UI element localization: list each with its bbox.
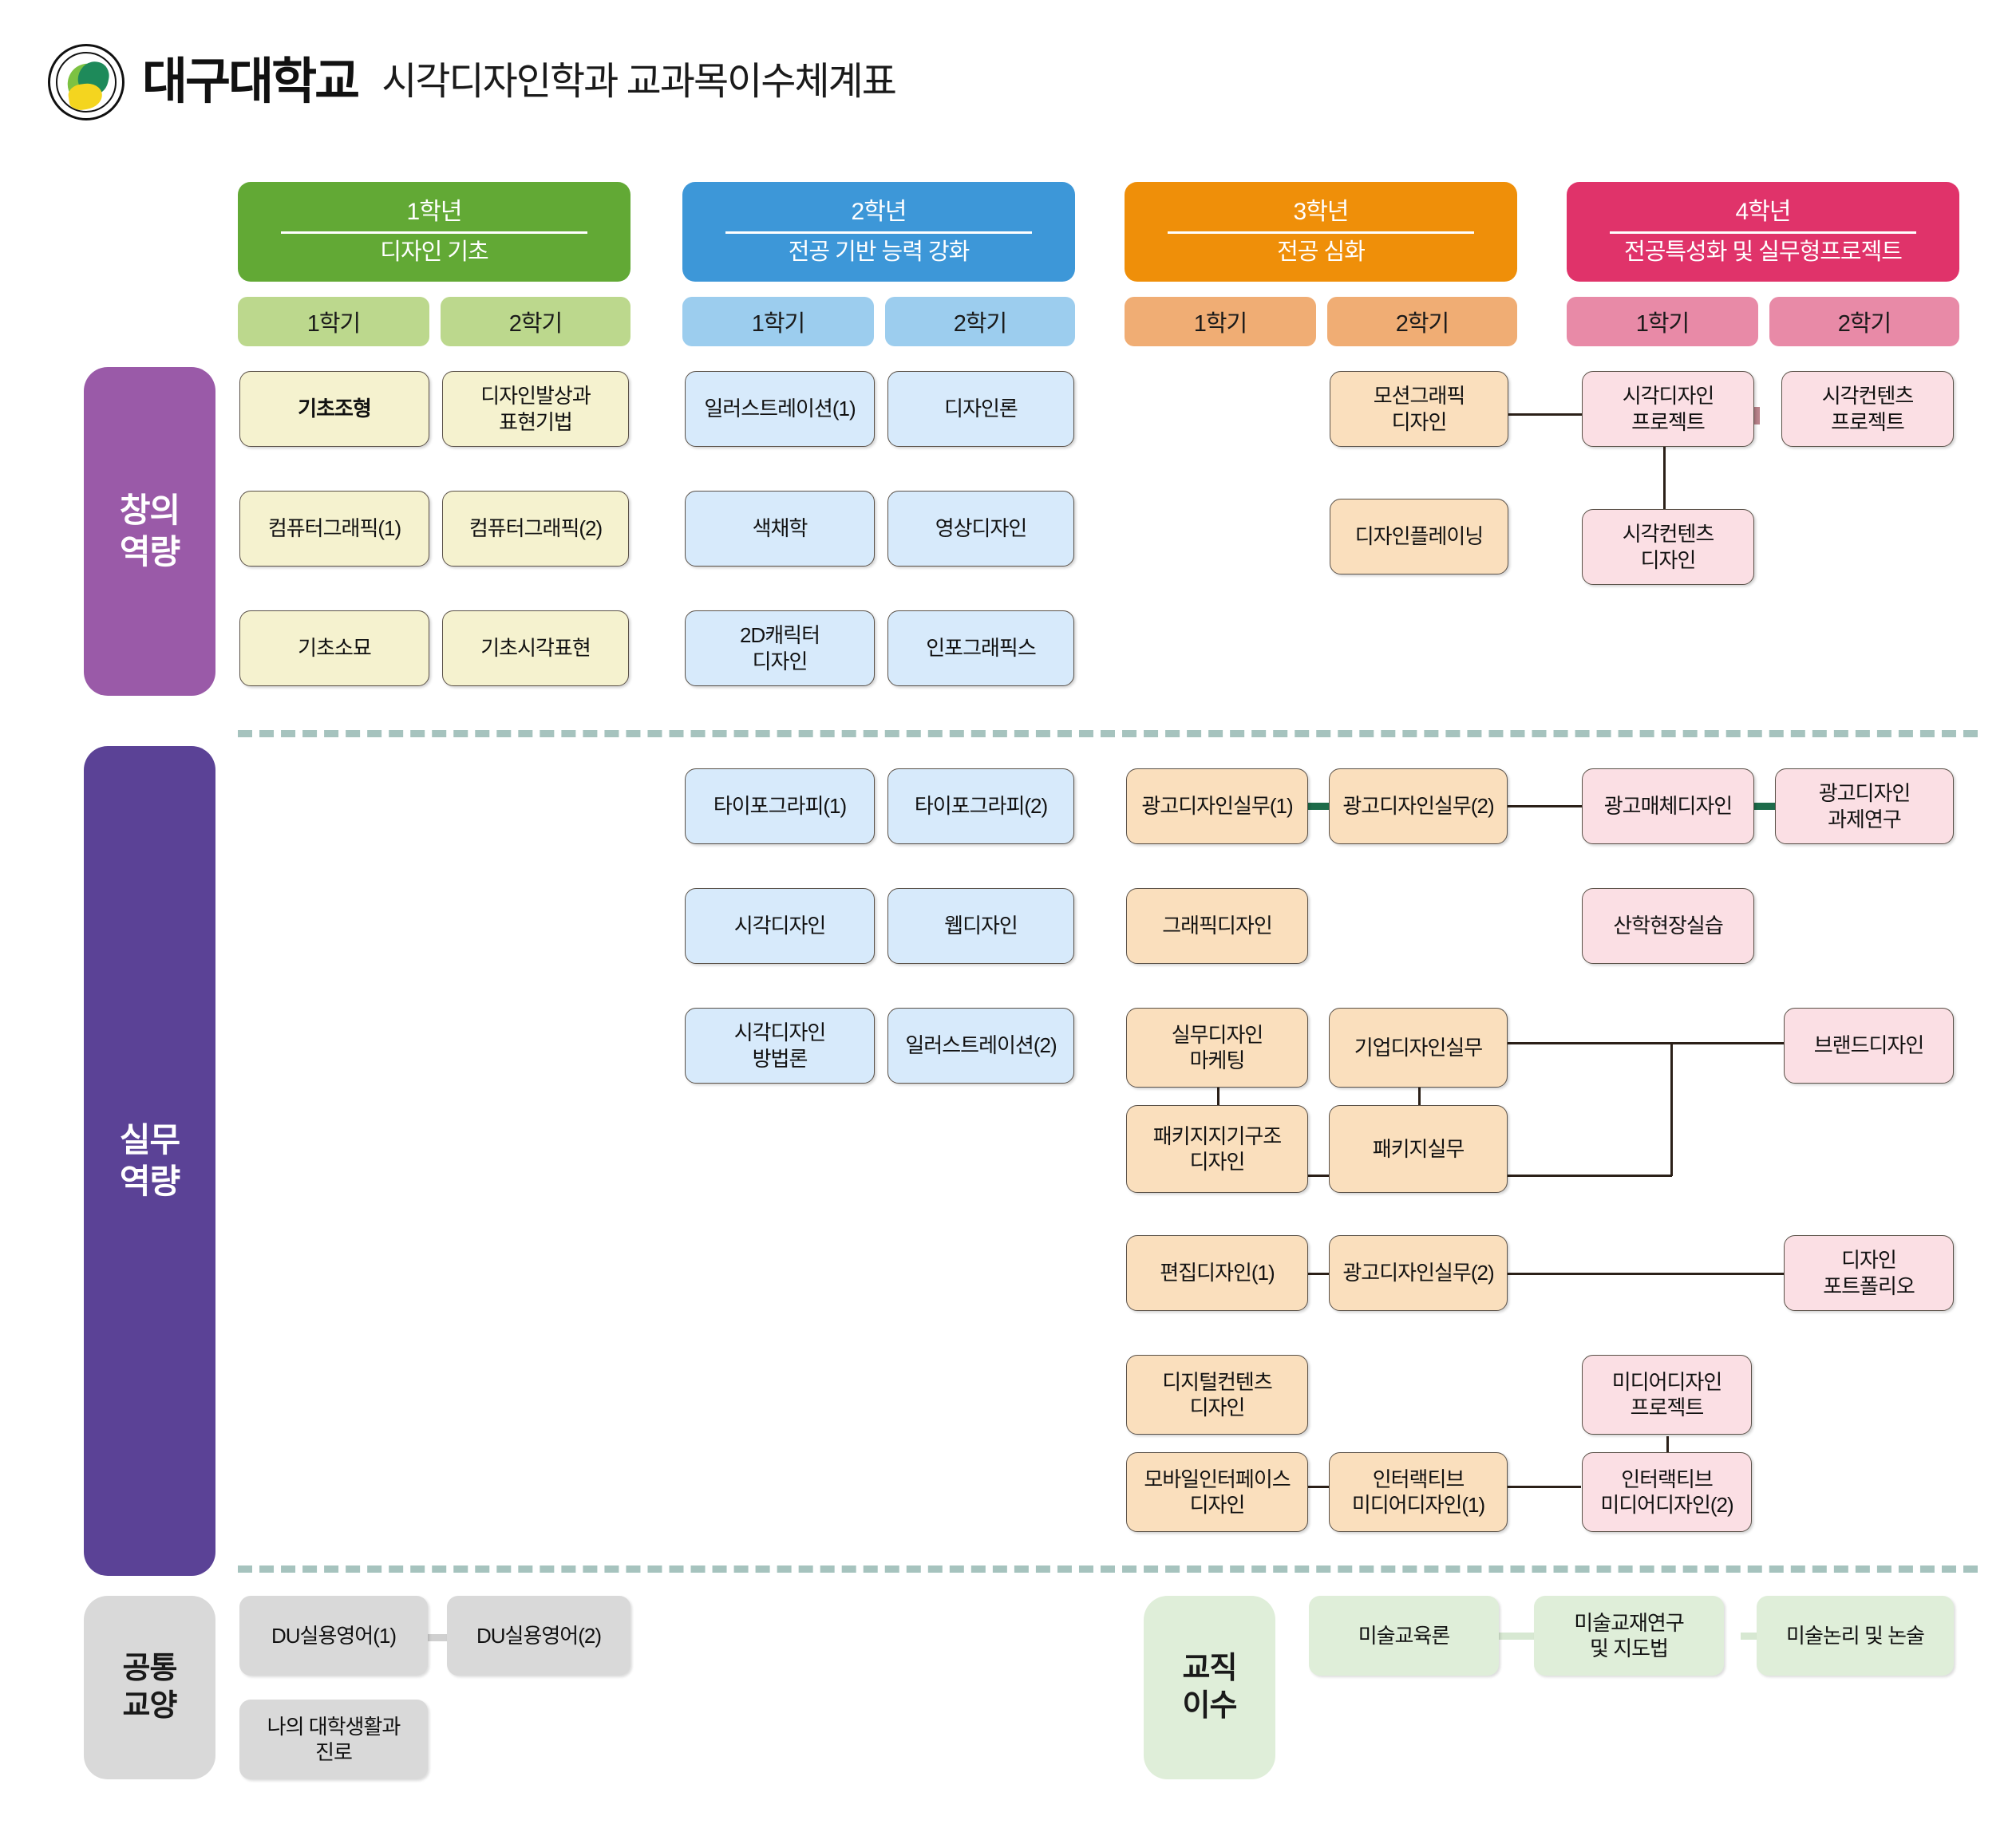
course-label-2: 디자인 [1190,1150,1245,1174]
course-label: 산학현장실습 [1613,914,1723,938]
course-label: 디자인 [1841,1248,1896,1272]
course-node-디지털컨텐츠디자인[interactable]: 디지털컨텐츠 디자인 [1126,1355,1308,1435]
course-node-그래픽디자인[interactable]: 그래픽디자인 [1126,888,1308,964]
year-label-4: 4학년 [1736,199,1791,230]
course-node-인포그래픽스[interactable]: 인포그래픽스 [887,610,1074,686]
connector-광고디자인실무2-광고매체디자인 [1508,805,1582,807]
rail-label-line2: 교양 [123,1689,177,1723]
course-node-광고디자인과제연구[interactable]: 광고디자인 과제연구 [1775,768,1954,844]
course-node-기초시각표현[interactable]: 기초시각표현 [442,610,629,686]
rail-label-line1: 실무 [120,1121,180,1159]
course-label: 미술교육론 [1358,1624,1450,1648]
year-theme-2: 전공 기반 능력 강화 [789,240,970,266]
course-label-2: 진로 [315,1740,352,1764]
course-label: 일러스트레이션(1) [704,397,855,420]
rail-label-line2: 역량 [120,533,180,571]
course-label: 미술교재연구 [1574,1611,1684,1635]
course-node-미디어디자인프로젝트[interactable]: 미디어디자인 프로젝트 [1582,1355,1752,1435]
course-label-2: 프로젝트 [1831,410,1904,434]
rail-label-line2: 이수 [1183,1689,1237,1723]
semester-label: 2학기 [1838,305,1891,338]
course-node-광고디자인실무1[interactable]: 광고디자인실무(1) [1126,768,1308,844]
section-divider-practical-common [238,1565,1978,1573]
connector-모바일-인터랙티브1 [1306,1486,1330,1488]
course-label: 시각컨텐츠 [1623,522,1714,546]
course-label: 기업디자인실무 [1354,1036,1482,1060]
semester-label: 1학기 [1194,305,1247,338]
connector-광고디자인실무1-2 [1308,803,1329,810]
course-node-웹디자인[interactable]: 웹디자인 [887,888,1074,964]
course-label: 디지털컨텐츠 [1162,1370,1272,1394]
semester-chip-y1s1[interactable]: 1학기 [238,297,429,346]
year-banner-2[interactable]: 2학년 전공 기반 능력 강화 [682,182,1075,282]
course-label: 패키지실무 [1373,1137,1465,1161]
semester-label: 1학기 [307,305,361,338]
connector-패키지실무-브랜드 [1508,1175,1672,1177]
course-label: 광고디자인 [1819,781,1911,805]
year-label-3: 3학년 [1294,199,1349,230]
course-node-광고디자인실무2[interactable]: 광고디자인실무(2) [1329,768,1508,844]
page-title: 시각디자인학과 교과목이수체계표 [381,63,895,101]
course-node-타이포그라피2[interactable]: 타이포그라피(2) [887,768,1074,844]
semester-chip-y4s1[interactable]: 1학기 [1567,297,1758,346]
course-label: 기초시각표현 [480,636,591,660]
section-divider-creative-practical [238,730,1978,737]
course-node-패키지실무[interactable]: 패키지실무 [1329,1105,1508,1193]
rail-common-liberal-arts: 공통 교양 [84,1596,215,1779]
rail-creative-competency: 창의 역량 [84,367,215,696]
connector-편집디자인-광고디자인실무2b [1306,1273,1330,1275]
course-label: 편집디자인(1) [1160,1261,1274,1285]
course-label-2: 디자인 [1392,410,1447,434]
course-label: 기초소묘 [298,636,371,660]
banner-divider [281,231,587,234]
course-label: 광고매체디자인 [1604,794,1732,818]
semester-chip-y2s1[interactable]: 1학기 [682,297,874,346]
course-label: 브랜드디자인 [1814,1033,1924,1057]
course-label: 나의 대학생활과 [267,1715,401,1739]
course-label: 시각디자인 [734,914,826,938]
course-label: 광고디자인실무(2) [1342,794,1493,818]
course-label-2: 디자인 [1190,1396,1245,1419]
rail-label-line1: 교직 [1183,1652,1237,1685]
course-label-2: 미디어디자인(2) [1600,1493,1733,1517]
course-label: 색채학 [753,516,808,540]
course-label: 광고디자인실무(1) [1141,794,1292,818]
course-node-모바일인터페이스디자인[interactable]: 모바일인터페이스 디자인 [1126,1452,1308,1532]
year-theme-4: 전공특성화 및 실무형프로젝트 [1624,240,1902,266]
course-node-디자인발상과표현기법[interactable]: 디자인발상과 표현기법 [442,371,629,447]
course-label: DU실용영어(1) [271,1624,396,1648]
course-label: 타이포그라피(2) [915,794,1047,818]
rail-label-line1: 창의 [120,492,180,529]
course-node-나의대학생활과진로[interactable]: 나의 대학생활과 진로 [239,1700,428,1779]
semester-chip-y3s2[interactable]: 2학기 [1327,297,1517,346]
connector-광고매체디자인-과제연구 [1754,803,1775,810]
course-node-광고디자인실무2-b[interactable]: 광고디자인실무(2) [1329,1235,1508,1311]
course-label-2: 미디어디자인(1) [1352,1493,1484,1517]
year-label-1: 1학년 [407,199,462,230]
daegu-university-emblem-icon [48,44,125,120]
course-label: 시각컨텐츠 [1822,384,1914,408]
course-node-광고매체디자인[interactable]: 광고매체디자인 [1582,768,1754,844]
course-label: 디자인발상과 [480,384,591,408]
course-node-시각디자인[interactable]: 시각디자인 [685,888,875,964]
banner-divider [725,231,1032,234]
year-theme-1: 디자인 기초 [380,240,488,266]
course-label: 기초조형 [298,397,371,420]
course-node-영상디자인[interactable]: 영상디자인 [887,491,1074,567]
year-banner-1[interactable]: 1학년 디자인 기초 [238,182,630,282]
course-node-일러스트레이션2[interactable]: 일러스트레이션(2) [887,1008,1074,1084]
semester-label: 1학기 [1636,305,1690,338]
course-node-컴퓨터그래픽1[interactable]: 컴퓨터그래픽(1) [239,491,429,567]
course-label: DU실용영어(2) [476,1624,601,1648]
connector-du영어1-2 [428,1634,447,1641]
course-label: 인포그래픽스 [926,636,1036,660]
course-node-시각디자인프로젝트[interactable]: 시각디자인 프로젝트 [1582,371,1754,447]
course-node-시각컨텐츠디자인[interactable]: 시각컨텐츠 디자인 [1582,509,1754,585]
banner-divider [1168,231,1474,234]
course-node-미술교재연구및지도법[interactable]: 미술교재연구 및 지도법 [1534,1596,1724,1676]
year-banner-4[interactable]: 4학년 전공특성화 및 실무형프로젝트 [1567,182,1959,282]
semester-chip-y3s1[interactable]: 1학기 [1125,297,1316,346]
connector-시각디자인프로젝트-시각컨텐츠디자인 [1663,447,1666,515]
semester-label: 1학기 [752,305,805,338]
course-label: 광고디자인실무(2) [1342,1261,1493,1285]
course-label-2: 디자인 [1190,1493,1245,1517]
course-node-편집디자인1[interactable]: 편집디자인(1) [1126,1235,1308,1311]
connector-패키지지기구조-패키지실무 [1308,1175,1330,1177]
course-node-시각컨텐츠프로젝트[interactable]: 시각컨텐츠 프로젝트 [1781,371,1954,447]
semester-label: 2학기 [1396,305,1449,338]
curriculum-diagram-canvas: 대구대학교 시각디자인학과 교과목이수체계표 1학년 디자인 기초 1학기 2학… [0,0,2016,1832]
course-node-시각디자인방법론[interactable]: 시각디자인 방법론 [685,1008,875,1084]
course-label: 디자인론 [944,397,1018,420]
course-node-인터랙티브미디어디자인1[interactable]: 인터랙티브 미디어디자인(1) [1329,1452,1508,1532]
course-label: 2D캐릭터 [740,623,820,647]
course-label: 인터랙티브 [1621,1467,1713,1491]
course-label: 미술논리 및 논술 [1786,1624,1924,1648]
course-node-타이포그라피1[interactable]: 타이포그라피(1) [685,768,875,844]
course-node-미술교육론[interactable]: 미술교육론 [1309,1596,1499,1676]
course-node-패키지지기구조디자인[interactable]: 패키지지기구조 디자인 [1126,1105,1308,1193]
course-node-du실용영어1[interactable]: DU실용영어(1) [239,1596,428,1676]
course-label-2: 프로젝트 [1631,1396,1704,1419]
rail-label-line2: 역량 [120,1163,180,1200]
year-banner-3[interactable]: 3학년 전공 심화 [1125,182,1517,282]
course-label: 일러스트레이션(2) [905,1033,1056,1057]
course-node-2D캐릭터디자인[interactable]: 2D캐릭터 디자인 [685,610,875,686]
course-label-2: 마케팅 [1190,1048,1245,1072]
course-node-실무디자인마케팅[interactable]: 실무디자인 마케팅 [1126,1008,1308,1088]
course-node-디자인플레이닝[interactable]: 디자인플레이닝 [1330,499,1508,574]
course-label: 실무디자인 [1172,1023,1263,1047]
course-node-기업디자인실무[interactable]: 기업디자인실무 [1329,1008,1508,1088]
rail-label-line1: 공통 [123,1652,177,1685]
semester-chip-y1s2[interactable]: 2학기 [441,297,630,346]
course-label-2: 디자인 [753,649,808,673]
course-label: 컴퓨터그래픽(2) [469,516,602,540]
course-label-2: 과제연구 [1828,807,1901,831]
course-label: 모션그래픽 [1374,384,1465,408]
course-label: 웹디자인 [944,914,1018,938]
rail-teaching-certification: 교직 이수 [1144,1596,1275,1779]
course-label: 모바일인터페이스 [1144,1467,1290,1491]
course-label: 시각디자인 [1623,384,1714,408]
semester-chip-y4s2[interactable]: 2학기 [1769,297,1959,346]
course-node-컴퓨터그래픽2[interactable]: 컴퓨터그래픽(2) [442,491,629,567]
connector-모션그래픽-시각디자인프로젝트 [1507,413,1583,416]
connector-기업디자인실무-브랜드 [1508,1042,1672,1044]
semester-chip-y2s2[interactable]: 2학기 [885,297,1075,346]
course-node-산학현장실습[interactable]: 산학현장실습 [1582,888,1754,964]
course-node-색채학[interactable]: 색채학 [685,491,875,567]
course-label: 미디어디자인 [1612,1370,1722,1394]
page-header: 대구대학교 시각디자인학과 교과목이수체계표 [48,44,895,120]
year-theme-3: 전공 심화 [1277,240,1365,266]
connector-브랜드-vertical [1670,1042,1673,1176]
university-name: 대구대학교 [142,57,358,107]
course-label: 컴퓨터그래픽(1) [268,516,401,540]
course-label: 타이포그라피(1) [714,794,846,818]
connector-미술교육론-교재연구 [1499,1633,1534,1640]
course-label-2: 프로젝트 [1631,410,1705,434]
course-node-디자인론[interactable]: 디자인론 [887,371,1074,447]
year-label-2: 2학년 [852,199,907,230]
course-label: 디자인플레이닝 [1355,524,1483,548]
course-label: 패키지지기구조 [1153,1124,1281,1148]
course-label: 영상디자인 [935,516,1027,540]
course-node-일러스트레이션1[interactable]: 일러스트레이션(1) [685,371,875,447]
banner-divider [1610,231,1916,234]
course-node-인터랙티브미디어디자인2[interactable]: 인터랙티브 미디어디자인(2) [1582,1452,1752,1532]
course-label-2: 방법론 [753,1047,808,1071]
rail-practical-competency: 실무 역량 [84,746,215,1576]
course-label-2: 포트폴리오 [1823,1274,1915,1298]
course-label-2: 및 지도법 [1590,1637,1668,1660]
course-label-2: 표현기법 [499,410,572,434]
connector-광고디자인실무2b-포트폴리오 [1508,1273,1784,1275]
course-node-기초소묘[interactable]: 기초소묘 [239,610,429,686]
course-node-브랜드디자인[interactable]: 브랜드디자인 [1784,1008,1954,1084]
semester-label: 2학기 [954,305,1007,338]
course-label-2: 디자인 [1641,548,1696,572]
course-label: 그래픽디자인 [1162,914,1272,938]
semester-label: 2학기 [509,305,563,338]
course-node-모션그래픽디자인[interactable]: 모션그래픽 디자인 [1330,371,1508,447]
course-node-미술논리및논술[interactable]: 미술논리 및 논술 [1757,1596,1954,1676]
course-label: 인터랙티브 [1373,1467,1465,1491]
connector-브랜드-entry [1670,1042,1784,1044]
connector-인터랙티브1-인터랙티브2 [1508,1486,1581,1488]
connector-교재연구-논리논술 [1741,1633,1757,1640]
course-node-du실용영어2[interactable]: DU실용영어(2) [447,1596,630,1676]
course-node-디자인포트폴리오[interactable]: 디자인 포트폴리오 [1784,1235,1954,1311]
course-node-기초조형[interactable]: 기초조형 [239,371,429,447]
course-label: 시각디자인 [734,1021,826,1044]
